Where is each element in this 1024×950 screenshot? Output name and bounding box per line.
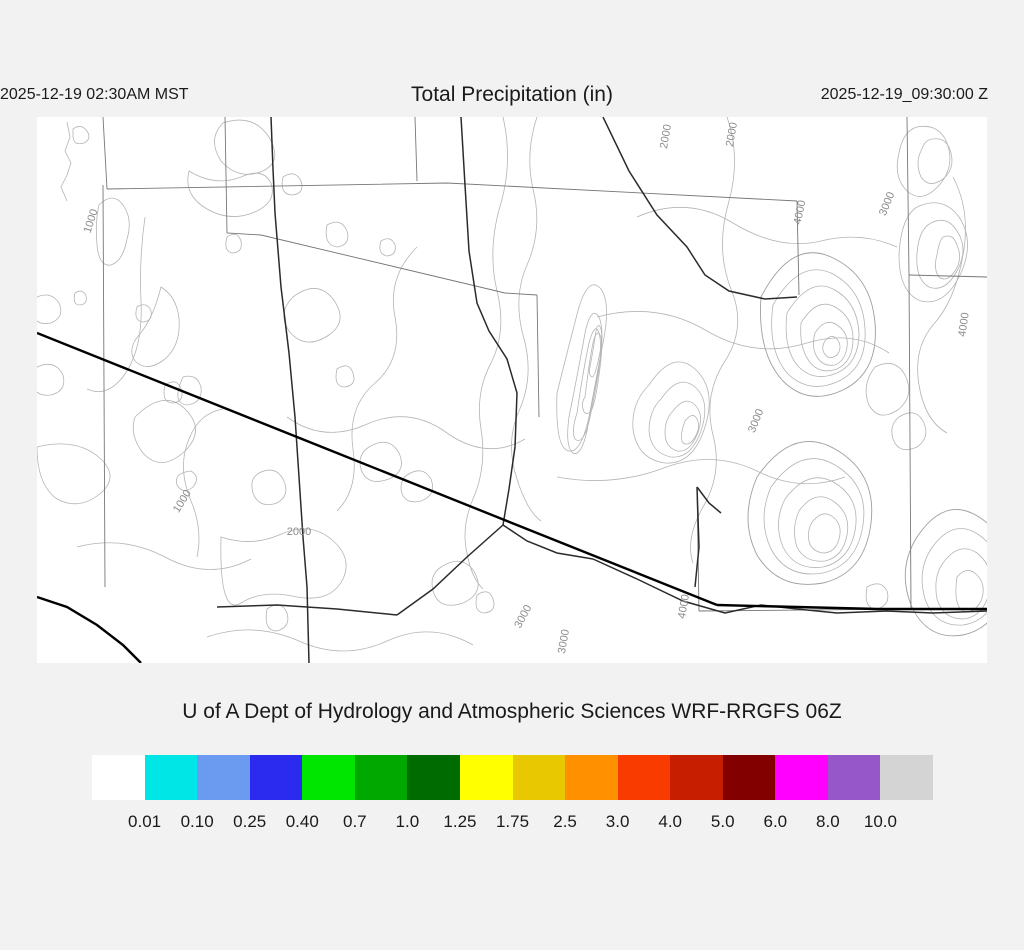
colorbar-tick-14: 10.0 (864, 812, 897, 832)
colorbar-swatch-14 (828, 755, 881, 800)
colorbar-tick-11: 5.0 (711, 812, 735, 832)
terrain-contours (37, 117, 987, 651)
colorbar-tick-7: 1.75 (496, 812, 529, 832)
contour-label-1000-0: 1000 (82, 208, 101, 235)
colorbar-swatch-5 (355, 755, 408, 800)
colorbar-swatch-0 (92, 755, 145, 800)
colorbar-swatch-1 (145, 755, 198, 800)
colorbar-tick-5: 1.0 (396, 812, 420, 832)
colorbar-swatch-6 (407, 755, 460, 800)
contour-label-3000-7: 3000 (746, 407, 766, 434)
colorbar-swatch-12 (723, 755, 776, 800)
colorbar-tick-6: 1.25 (443, 812, 476, 832)
colorbar-tick-9: 3.0 (606, 812, 630, 832)
colorbar-tick-0: 0.01 (128, 812, 161, 832)
contour-label-3000-8: 3000 (877, 190, 897, 217)
contour-label-2000-2: 2000 (287, 526, 311, 538)
contour-label-1000-1: 1000 (171, 488, 194, 515)
colorbar-tick-13: 8.0 (816, 812, 840, 832)
colorbar-tick-2: 0.25 (233, 812, 266, 832)
colorbar-swatch-10 (618, 755, 671, 800)
colorbar-tick-1: 0.10 (181, 812, 214, 832)
colorbar-swatch-2 (197, 755, 250, 800)
colorbar-swatch-7 (460, 755, 513, 800)
footer-credit: U of A Dept of Hydrology and Atmospheric… (0, 700, 1024, 724)
header-row: 2025-12-19 02:30AM MST Total Precipitati… (0, 86, 1024, 112)
colorbar-swatches (92, 755, 933, 800)
valid-time-utc: 2025-12-19_09:30:00 Z (821, 86, 988, 104)
colorbar-swatch-15 (880, 755, 933, 800)
colorbar-tick-12: 6.0 (763, 812, 787, 832)
map-panel[interactable]: 1000100020002000200030003000300030004000… (37, 117, 987, 663)
colorbar-tick-4: 0.7 (343, 812, 367, 832)
colorbar-swatch-8 (513, 755, 566, 800)
contour-label-4000-9: 4000 (792, 199, 809, 225)
colorbar-tick-10: 4.0 (658, 812, 682, 832)
colorbar-swatch-11 (670, 755, 723, 800)
map-canvas: 1000100020002000200030003000300030004000… (37, 117, 987, 663)
colorbar-tick-3: 0.40 (286, 812, 319, 832)
colorbar: 0.010.100.250.400.71.01.251.752.53.04.05… (92, 755, 933, 842)
contour-label-2000-3: 2000 (658, 123, 674, 149)
contour-label-3000-6: 3000 (556, 628, 572, 654)
contour-label-4000-10: 4000 (676, 593, 692, 619)
state-boundaries (217, 117, 987, 663)
contour-label-3000-5: 3000 (512, 603, 534, 630)
colorbar-tick-labels: 0.010.100.250.400.71.01.251.752.53.04.05… (92, 812, 933, 842)
colorbar-swatch-13 (775, 755, 828, 800)
contour-label-4000-11: 4000 (956, 312, 971, 338)
contour-label-2000-4: 2000 (724, 121, 740, 147)
colorbar-tick-8: 2.5 (553, 812, 577, 832)
colorbar-swatch-4 (302, 755, 355, 800)
colorbar-swatch-9 (565, 755, 618, 800)
colorbar-swatch-3 (250, 755, 303, 800)
